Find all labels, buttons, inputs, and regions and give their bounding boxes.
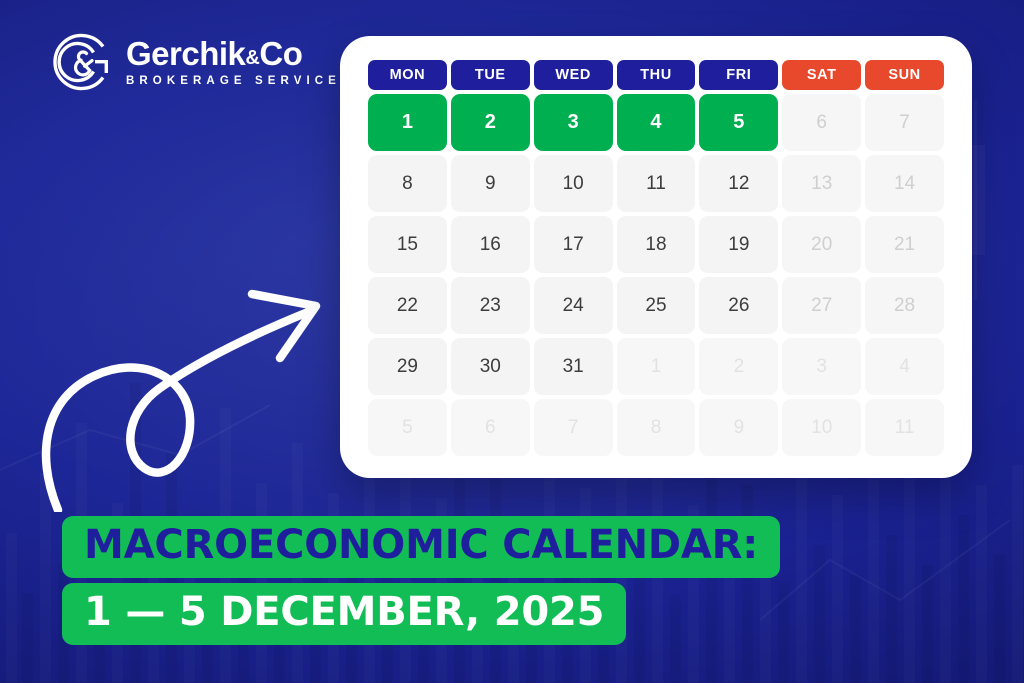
calendar-grid: MONTUEWEDTHUFRISATSUN1234567891011121314…	[368, 60, 944, 456]
calendar-day-cell[interactable]: 20	[782, 216, 861, 273]
calendar-day-cell[interactable]: 7	[534, 399, 613, 456]
calendar-header-wed: WED	[534, 60, 613, 90]
calendar-header-sat: SAT	[782, 60, 861, 90]
calendar-day-cell[interactable]: 1	[617, 338, 696, 395]
calendar-day-cell[interactable]: 11	[617, 155, 696, 212]
calendar-header-thu: THU	[617, 60, 696, 90]
calendar-day-cell[interactable]: 3	[782, 338, 861, 395]
calendar-day-cell[interactable]: 1	[368, 94, 447, 151]
calendar-header-mon: MON	[368, 60, 447, 90]
gerchik-circle-monogram-icon	[48, 30, 112, 94]
brand-name-part2: Co	[259, 35, 302, 72]
brand-name-part1: Gerchik	[126, 35, 245, 72]
calendar-day-cell[interactable]: 11	[865, 399, 944, 456]
calendar-day-cell[interactable]: 13	[782, 155, 861, 212]
calendar-day-cell[interactable]: 7	[865, 94, 944, 151]
calendar-day-cell[interactable]: 22	[368, 277, 447, 334]
title-banner-row-1: MACROECONOMIC CALENDAR:	[62, 516, 780, 578]
banner-title-line2: 1 — 5 DECEMBER, 2025	[84, 592, 604, 632]
calendar-day-cell[interactable]: 10	[534, 155, 613, 212]
calendar-day-cell[interactable]: 12	[699, 155, 778, 212]
calendar-day-cell[interactable]: 29	[368, 338, 447, 395]
calendar-day-cell[interactable]: 5	[368, 399, 447, 456]
calendar-day-cell[interactable]: 25	[617, 277, 696, 334]
brand-wordmark: Gerchik&Co BROKERAGE SERVICES	[126, 37, 354, 87]
calendar-day-cell[interactable]: 31	[534, 338, 613, 395]
brand-tagline: BROKERAGE SERVICES	[126, 75, 354, 87]
calendar-day-cell[interactable]: 23	[451, 277, 530, 334]
calendar-day-cell[interactable]: 16	[451, 216, 530, 273]
calendar-day-cell[interactable]: 19	[699, 216, 778, 273]
calendar-day-cell[interactable]: 17	[534, 216, 613, 273]
calendar-day-cell[interactable]: 9	[699, 399, 778, 456]
calendar-day-cell[interactable]: 28	[865, 277, 944, 334]
calendar-day-cell[interactable]: 2	[699, 338, 778, 395]
calendar-day-cell[interactable]: 21	[865, 216, 944, 273]
calendar-day-cell[interactable]: 18	[617, 216, 696, 273]
calendar-header-tue: TUE	[451, 60, 530, 90]
calendar-day-cell[interactable]: 6	[451, 399, 530, 456]
calendar-day-cell[interactable]: 4	[617, 94, 696, 151]
calendar-day-cell[interactable]: 14	[865, 155, 944, 212]
brand-ampersand: &	[245, 47, 259, 69]
brand-name: Gerchik&Co	[126, 37, 354, 71]
calendar-day-cell[interactable]: 26	[699, 277, 778, 334]
calendar-day-cell[interactable]: 4	[865, 338, 944, 395]
banner-title-line1: MACROECONOMIC CALENDAR:	[84, 525, 758, 565]
calendar-day-cell[interactable]: 6	[782, 94, 861, 151]
calendar-day-cell[interactable]: 30	[451, 338, 530, 395]
calendar-day-cell[interactable]: 5	[699, 94, 778, 151]
title-banner: MACROECONOMIC CALENDAR: 1 — 5 DECEMBER, …	[62, 516, 1024, 645]
calendar-header-sun: SUN	[865, 60, 944, 90]
calendar-header-fri: FRI	[699, 60, 778, 90]
calendar-day-cell[interactable]: 8	[617, 399, 696, 456]
poster-canvas: Gerchik&Co BROKERAGE SERVICES MONTUEWEDT…	[0, 0, 1024, 683]
calendar-day-cell[interactable]: 15	[368, 216, 447, 273]
calendar-day-cell[interactable]: 27	[782, 277, 861, 334]
title-banner-row-2: 1 — 5 DECEMBER, 2025	[62, 583, 626, 645]
calendar-day-cell[interactable]: 2	[451, 94, 530, 151]
calendar-day-cell[interactable]: 24	[534, 277, 613, 334]
calendar-card: MONTUEWEDTHUFRISATSUN1234567891011121314…	[340, 36, 972, 478]
calendar-day-cell[interactable]: 10	[782, 399, 861, 456]
calendar-day-cell[interactable]: 9	[451, 155, 530, 212]
calendar-day-cell[interactable]: 3	[534, 94, 613, 151]
calendar-day-cell[interactable]: 8	[368, 155, 447, 212]
brand-logo: Gerchik&Co BROKERAGE SERVICES	[48, 30, 354, 94]
